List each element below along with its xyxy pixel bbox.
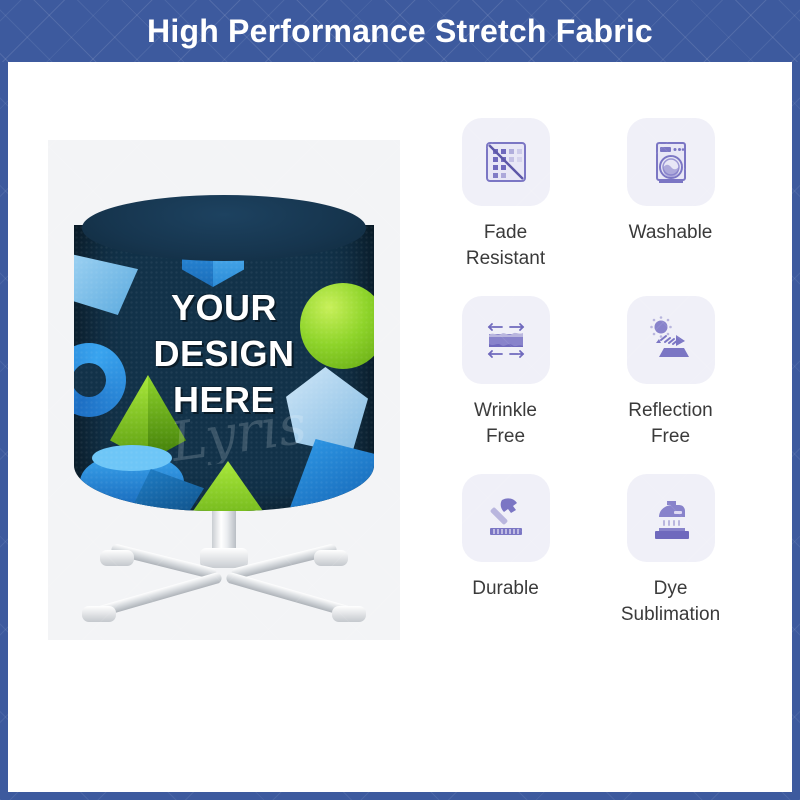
iron-icon [645,492,697,544]
feature-label: Durable [472,576,539,602]
design-text-line-1: YOUR [74,285,374,331]
reflection-free-icon [645,314,697,366]
design-placeholder-text: YOUR DESIGN HERE [74,285,374,423]
feature-icon-tile [462,474,550,562]
hammer-icon [480,492,532,544]
drum-top-surface [82,195,366,261]
feature-icon-tile [627,474,715,562]
feature-durable[interactable]: Durable [428,474,583,628]
feature-icon-tile [462,118,550,206]
feature-washable[interactable]: Washable [593,118,748,272]
green-triangle-shape [186,461,270,511]
feature-label: Wrinkle Free [474,398,537,450]
stand-foot-front-left [82,606,116,622]
stand-foot-front-right [332,606,366,622]
feature-dye-sublimation[interactable]: Dye Sublimation [593,474,748,628]
page-title: High Performance Stretch Fabric [0,0,800,62]
feature-label: Reflection Free [628,398,713,450]
design-text-line-3: HERE [74,377,374,423]
teal-shard-shape [134,469,204,511]
stand-hub [200,548,248,568]
feature-label: Washable [629,220,713,246]
feature-reflection-free[interactable]: Reflection Free [593,296,748,450]
feature-fade-resistant[interactable]: Fade Resistant [428,118,583,272]
feature-icon-tile [462,296,550,384]
blue-shard-shape [288,439,374,511]
feature-icon-tile [627,296,715,384]
fade-resistant-icon [480,136,532,188]
feature-label: Fade Resistant [466,220,545,272]
feature-wrinkle-free[interactable]: Wrinkle Free [428,296,583,450]
design-text-line-2: DESIGN [74,331,374,377]
washing-machine-icon [645,136,697,188]
product-photo[interactable]: Lyris YOUR DESIGN HERE [48,140,400,640]
stand-foot-back-left [100,550,134,566]
blue-bowl-shape [80,453,184,511]
stand-foot-back-right [314,550,348,566]
feature-icon-tile [627,118,715,206]
feature-grid: Fade Resistant Washable [428,118,748,628]
page-header: High Performance Stretch Fabric [0,0,800,62]
fabric-cover-graphic: Lyris YOUR DESIGN HERE [74,195,374,525]
wrinkle-free-icon [480,314,532,366]
feature-label: Dye Sublimation [621,576,720,628]
content-frame: Lyris YOUR DESIGN HERE [8,62,792,792]
page-root: High Performance Stretch Fabric [0,0,800,800]
